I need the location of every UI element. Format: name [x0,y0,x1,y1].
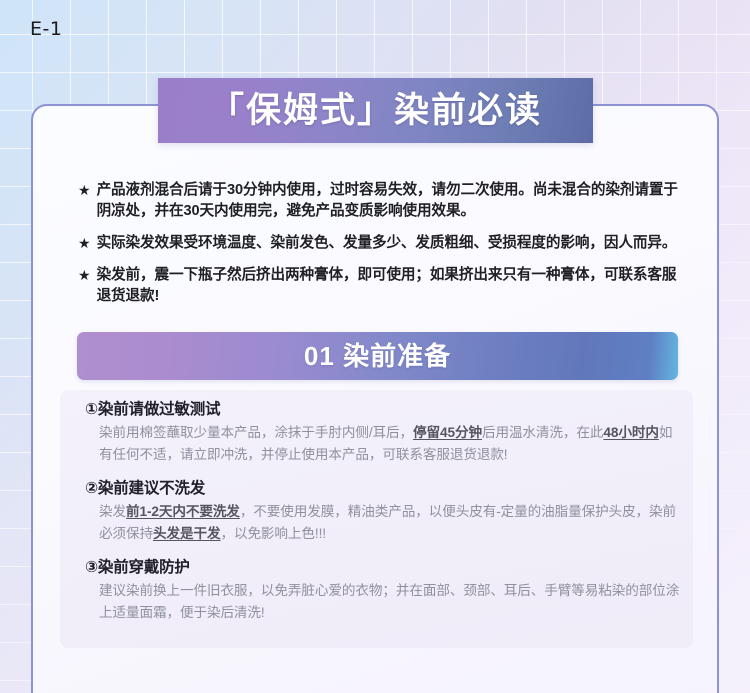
step-body-text: 染前用棉签蘸取少量本产品，涂抹于手肘内侧/耳后， [99,425,413,440]
step-item: ①染前请做过敏测试染前用棉签蘸取少量本产品，涂抹于手肘内侧/耳后，停留45分钟后… [85,400,685,465]
notice-item-text: 实际染发效果受环境温度、染前发色、发量多少、发质粗细、受损程度的影响，因人而异。 [97,233,678,254]
title-banner: 「保姆式」染前必读 [158,78,593,143]
step-title: ③染前穿戴防护 [85,558,685,578]
step-body-text: ，以免影响上色!!! [220,526,326,541]
steps-list: ①染前请做过敏测试染前用棉签蘸取少量本产品，涂抹于手肘内侧/耳后，停留45分钟后… [85,400,685,637]
step-body-text: 染发 [99,504,126,519]
step-body-emphasis: 头发是干发 [153,526,220,541]
star-icon: ★ [78,180,91,200]
step-title: ①染前请做过敏测试 [85,400,685,420]
step-body-emphasis: 前1-2天内不要洗发 [126,504,240,519]
step-item: ②染前建议不洗发染发前1-2天内不要洗发，不要使用发膜，精油类产品，以便头皮有-… [85,479,685,544]
step-body-text: 建议染前换上一件旧衣服，以免弄脏心爱的衣物；并在面部、颈部、耳后、手臂等易粘染的… [99,583,679,620]
notice-item-text: 产品液剂混合后请于30分钟内使用，过时容易失效，请勿二次使用。尚未混合的染剂请置… [97,180,678,222]
step-body: 染发前1-2天内不要洗发，不要使用发膜，精油类产品，以便头皮有-定量的油脂量保护… [85,501,685,544]
notice-list: ★产品液剂混合后请于30分钟内使用，过时容易失效，请勿二次使用。尚未混合的染剂请… [78,180,678,318]
step-body-text: 后用温水清洗，在此 [482,425,603,440]
star-icon: ★ [78,233,91,253]
page-code-label: E-1 [30,20,62,39]
step-body-emphasis: 停留45分钟 [413,425,482,440]
step-body-emphasis: 48小时内 [603,425,658,440]
step-body: 建议染前换上一件旧衣服，以免弄脏心爱的衣物；并在面部、颈部、耳后、手臂等易粘染的… [85,580,685,623]
section-banner: 01 染前准备 [77,332,678,380]
promo-page: E-1 「保姆式」染前必读 ★产品液剂混合后请于30分钟内使用，过时容易失效，请… [0,0,750,693]
notice-item: ★产品液剂混合后请于30分钟内使用，过时容易失效，请勿二次使用。尚未混合的染剂请… [78,180,678,222]
step-title: ②染前建议不洗发 [85,479,685,499]
star-icon: ★ [78,265,91,285]
title-banner-text: 「保姆式」染前必读 [209,93,542,128]
step-body: 染前用棉签蘸取少量本产品，涂抹于手肘内侧/耳后，停留45分钟后用温水清洗，在此4… [85,422,685,465]
notice-item-text: 染发前，震一下瓶子然后挤出两种膏体，即可使用；如果挤出来只有一种膏体，可联系客服… [97,265,678,307]
section-banner-text: 01 染前准备 [304,343,451,369]
step-item: ③染前穿戴防护建议染前换上一件旧衣服，以免弄脏心爱的衣物；并在面部、颈部、耳后、… [85,558,685,623]
notice-item: ★染发前，震一下瓶子然后挤出两种膏体，即可使用；如果挤出来只有一种膏体，可联系客… [78,265,678,307]
notice-item: ★实际染发效果受环境温度、染前发色、发量多少、发质粗细、受损程度的影响，因人而异… [78,233,678,254]
